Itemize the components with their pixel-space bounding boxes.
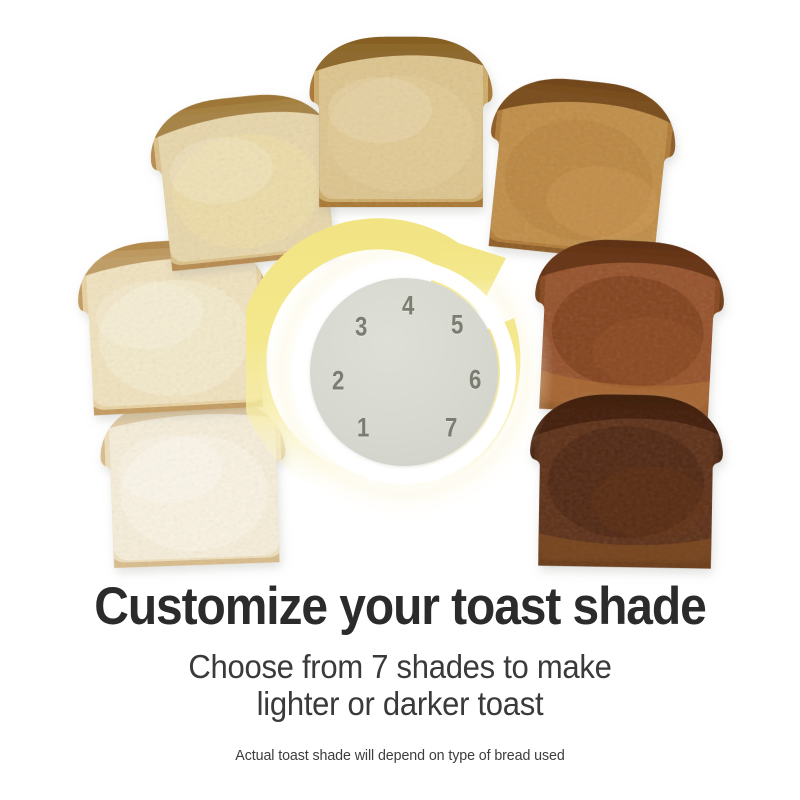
dial-number-2[interactable]: 2 <box>332 368 344 395</box>
dial-number-3[interactable]: 3 <box>355 313 367 340</box>
dial-number-1[interactable]: 1 <box>357 415 369 442</box>
subtitle-line-1: Choose from 7 shades to make <box>24 648 776 685</box>
toast-shade-dial[interactable]: 1234567 <box>246 214 562 530</box>
dial-number-7[interactable]: 7 <box>445 415 457 442</box>
subtitle: Choose from 7 shades to make lighter or … <box>24 648 776 722</box>
toast-slice-shade-4 <box>308 36 494 208</box>
dial-number-6[interactable]: 6 <box>469 366 481 393</box>
caption-block: Customize your toast shade Choose from 7… <box>0 578 800 765</box>
subtitle-line-2: lighter or darker toast <box>24 685 776 722</box>
page-title: Customize your toast shade <box>38 578 762 636</box>
disclaimer-text: Actual toast shade will depend on type o… <box>20 746 780 765</box>
toast-shade-infographic: 1234567 Customize your toast shade Choos… <box>0 0 800 800</box>
dial-number-5[interactable]: 5 <box>451 312 463 339</box>
dial-number-4[interactable]: 4 <box>402 293 414 320</box>
